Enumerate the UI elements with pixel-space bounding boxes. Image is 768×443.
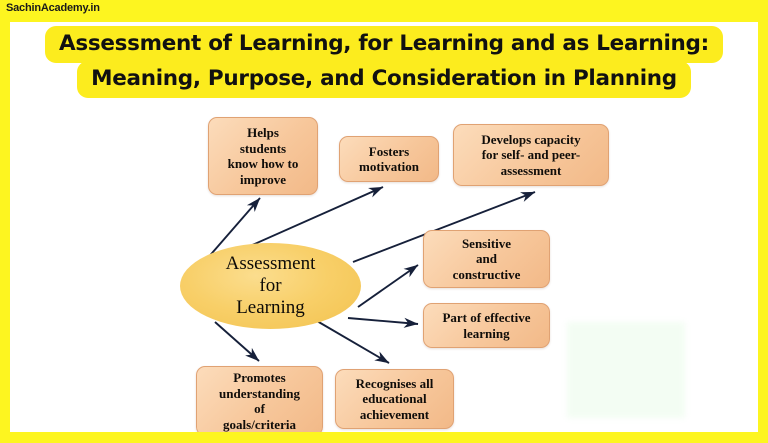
- arrow-to-recognises-achievement: [317, 321, 389, 363]
- node-fosters-motivation[interactable]: Fosters motivation: [339, 136, 439, 182]
- node-center-line-3: Learning: [226, 297, 316, 319]
- node-label-line: Sensitive: [449, 236, 525, 252]
- page-title: Assessment of Learning, for Learning and…: [10, 22, 758, 98]
- node-label-line: understanding: [215, 386, 304, 402]
- node-label-line: Promotes: [215, 370, 304, 386]
- node-label-line: Part of effective: [438, 310, 534, 326]
- node-label-line: improve: [224, 172, 303, 188]
- node-label-line: students: [224, 141, 303, 157]
- slide-frame: SachinAcademy.in Assessment of Learning,…: [0, 0, 768, 443]
- title-line-1: Assessment of Learning, for Learning and…: [45, 26, 723, 63]
- node-helps-students[interactable]: Helps students know how to improve: [208, 117, 318, 195]
- node-label-line: Recognises all: [352, 376, 438, 392]
- node-label-line: of: [215, 401, 304, 417]
- arrow-to-sensitive-constructive: [358, 265, 418, 307]
- node-label-line: assessment: [477, 163, 584, 179]
- watermark-label: SachinAcademy.in: [6, 2, 100, 14]
- node-label-line: and: [449, 251, 525, 267]
- node-label-line: educational: [352, 391, 438, 407]
- node-label-line: goals/criteria: [215, 417, 304, 433]
- arrow-to-part-of-effective-learning: [348, 318, 418, 324]
- node-sensitive-and-constructive[interactable]: Sensitive and constructive: [423, 230, 550, 288]
- node-label-line: know how to: [224, 156, 303, 172]
- node-assessment-for-learning[interactable]: Assessment for Learning: [180, 243, 361, 329]
- node-recognises-achievement[interactable]: Recognises all educational achievement: [335, 369, 454, 429]
- node-promotes-understanding[interactable]: Promotes understanding of goals/criteria: [196, 366, 323, 432]
- node-center-line-1: Assessment: [226, 253, 316, 275]
- title-line-2: Meaning, Purpose, and Consideration in P…: [77, 61, 691, 98]
- node-label-line: Helps: [224, 125, 303, 141]
- node-label-line: learning: [438, 326, 534, 342]
- node-label-line: for self- and peer-: [477, 147, 584, 163]
- arrow-to-fosters-motivation: [241, 187, 383, 250]
- node-center-line-2: for: [226, 275, 316, 297]
- node-label-line: Develops capacity: [477, 132, 584, 148]
- node-develops-capacity[interactable]: Develops capacity for self- and peer- as…: [453, 124, 609, 186]
- node-part-of-effective-learning[interactable]: Part of effective learning: [423, 303, 550, 348]
- node-label-line: constructive: [449, 267, 525, 283]
- node-label-line: motivation: [355, 159, 423, 175]
- slide-canvas: Assessment of Learning, for Learning and…: [10, 22, 758, 432]
- node-label-line: Fosters: [355, 144, 423, 160]
- node-label-line: achievement: [352, 407, 438, 423]
